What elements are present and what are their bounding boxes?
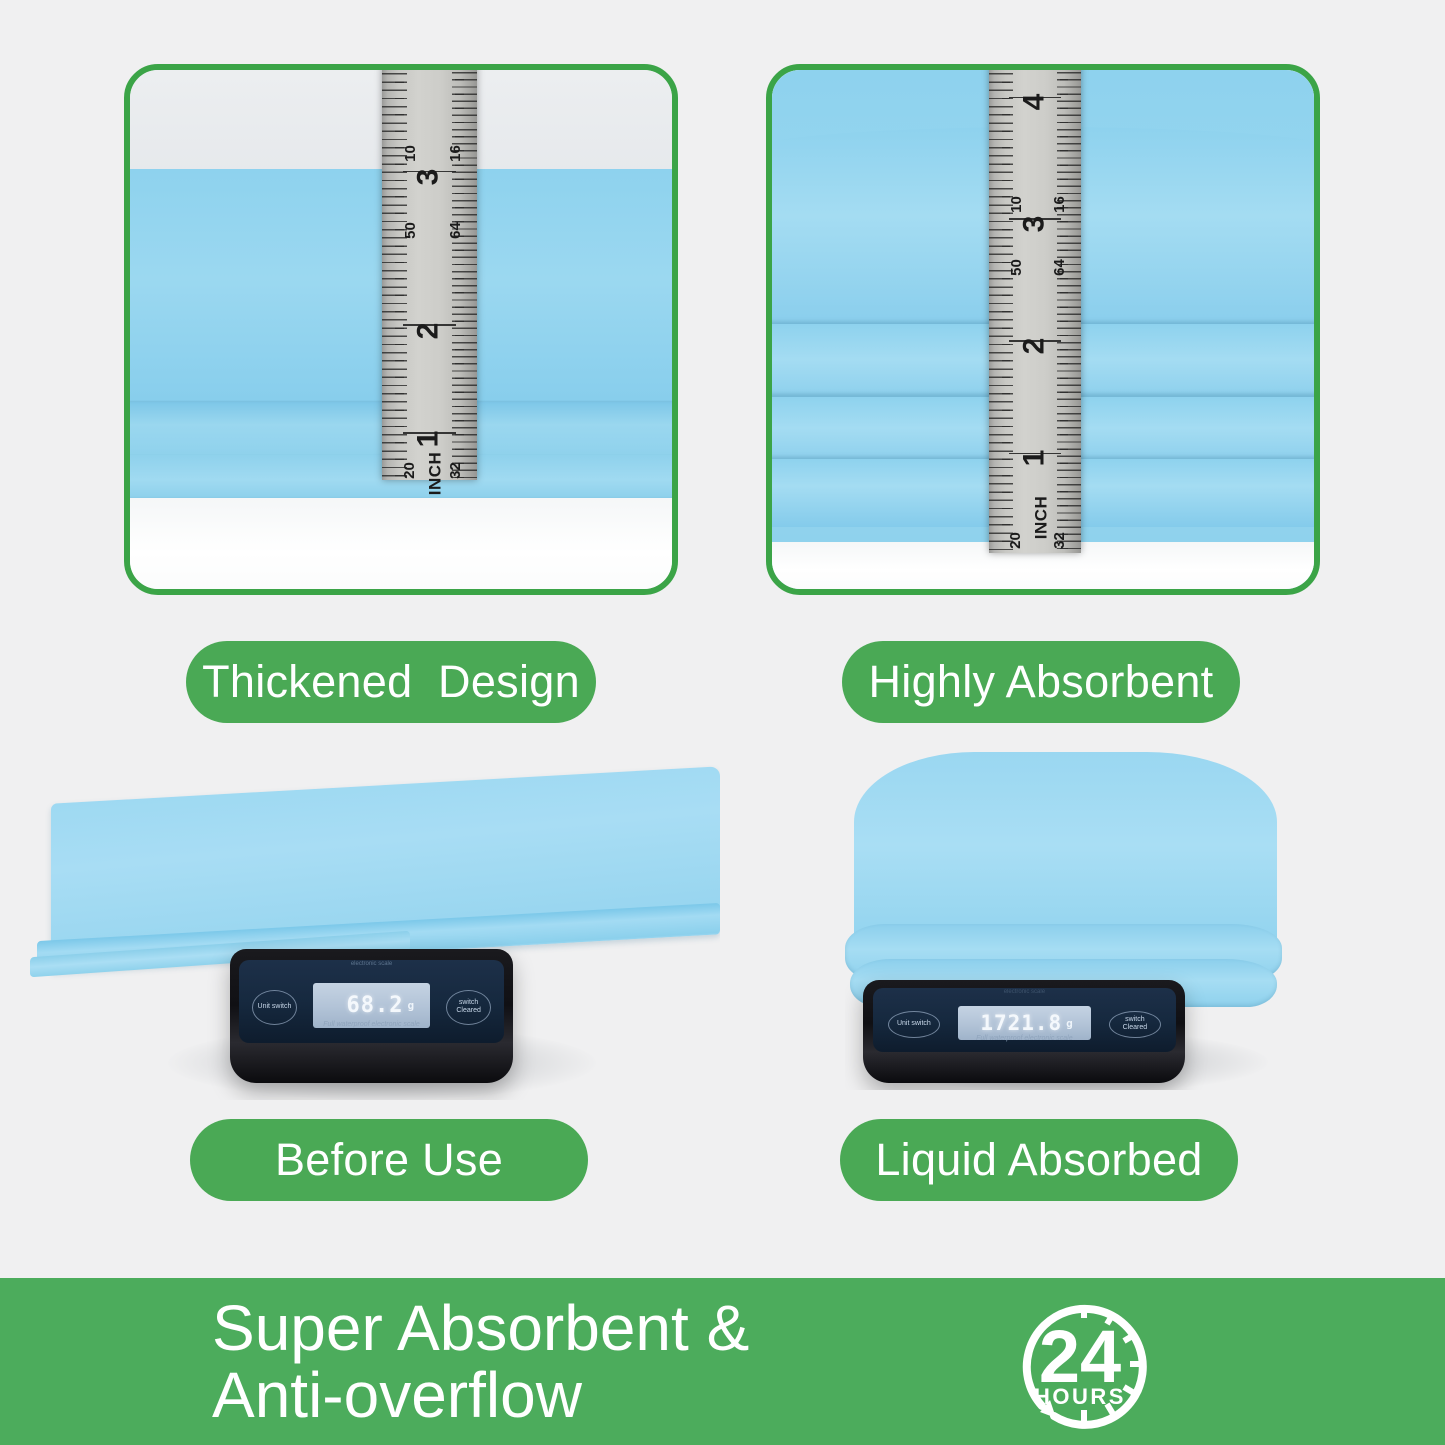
ruler-mark-16: 16: [1052, 196, 1067, 213]
ruler-ticks-right-coarse: [1060, 70, 1068, 553]
label-liquid-absorbed: Liquid Absorbed: [840, 1119, 1238, 1201]
steel-ruler: 3 2 1 INCH 10 50 20 16 64 32: [382, 70, 477, 480]
ruler-inch-4: 4: [1019, 93, 1049, 110]
absorbent-pad-stack-with-ruler-photo: 4 3 2 1 INCH 10 50 20 16 64 32: [772, 70, 1314, 589]
ruler-inch-3: 3: [1019, 215, 1049, 232]
digital-scale-before: electronic scale Unit switch 68.2 g swit…: [230, 949, 513, 1083]
ruler-mark-32: 32: [1052, 532, 1067, 549]
ruler-inch-2: 2: [1019, 337, 1049, 354]
label-before-use: Before Use: [190, 1119, 588, 1201]
scale-clear-button[interactable]: switch Cleared: [446, 990, 491, 1025]
ruler-inch-1: 1: [1019, 450, 1049, 467]
scale-unit-switch-button[interactable]: Unit switch: [888, 1011, 939, 1038]
scale-clear-button[interactable]: switch Cleared: [1109, 1011, 1160, 1038]
ruler-inch-1: 1: [413, 431, 443, 448]
ruler-mark-50: 50: [1009, 259, 1024, 276]
scale-front-panel: electronic scale Unit switch 1721.8 g sw…: [873, 988, 1176, 1052]
highly-absorbent-photo-frame: 4 3 2 1 INCH 10 50 20 16 64 32: [766, 64, 1320, 595]
ruler-ticks-left-coarse: [395, 70, 404, 480]
ruler-mark-10: 10: [403, 145, 418, 162]
scale-unit-switch-button[interactable]: Unit switch: [252, 990, 297, 1025]
scale-front-panel: electronic scale Unit switch 68.2 g swit…: [239, 960, 505, 1043]
scale-reading-unit: g: [1066, 1017, 1073, 1030]
ruler-unit-word: INCH: [1032, 495, 1049, 539]
ruler-mark-10: 10: [1009, 196, 1024, 213]
headline-text: Super Absorbent & Anti-overflow: [212, 1295, 749, 1428]
scale-caption-text: Full waterproof electronic scale: [873, 1035, 1176, 1042]
scale-reading-value: 68.2: [346, 993, 403, 1018]
soaked-pad-on-scale-photo: electronic scale Unit switch 1721.8 g sw…: [845, 745, 1305, 1090]
ruler-inch-2: 2: [413, 323, 443, 340]
flat-pad-on-scale-photo: electronic scale Unit switch 68.2 g swit…: [30, 765, 720, 1100]
clock-24-hours-icon: 24 HOURS: [1010, 1290, 1158, 1438]
scale-reading-unit: g: [407, 999, 414, 1012]
ruler-mark-64: 64: [1052, 259, 1067, 276]
ruler-ticks-right-coarse: [455, 70, 464, 480]
digital-scale-liquid: electronic scale Unit switch 1721.8 g sw…: [863, 980, 1185, 1084]
badge-word: HOURS: [1034, 1384, 1126, 1409]
scale-caption-text: Full waterproof electronic scale: [239, 1021, 505, 1028]
ruler-mark-64: 64: [447, 222, 462, 239]
label-highly-absorbent: Highly Absorbent: [842, 641, 1240, 723]
bottom-headline-banner: Super Absorbent & Anti-overflow: [0, 1278, 1445, 1445]
ruler-mark-32: 32: [447, 463, 462, 480]
ruler-unit-word: INCH: [427, 452, 444, 496]
scale-reading-value: 1721.8: [980, 1011, 1062, 1035]
thickened-design-photo-frame: 3 2 1 INCH 10 50 20 16 64 32: [124, 64, 678, 595]
steel-ruler: 4 3 2 1 INCH 10 50 20 16 64 32: [989, 70, 1081, 553]
scale-brand-text: electronic scale: [873, 989, 1176, 995]
scale-brand-text: electronic scale: [239, 961, 505, 967]
ruler-inch-3: 3: [413, 169, 443, 186]
thickened-pad-with-ruler-photo: 3 2 1 INCH 10 50 20 16 64 32: [130, 70, 672, 589]
ruler-mark-20: 20: [402, 463, 417, 480]
ruler-ticks-left-coarse: [1002, 70, 1010, 553]
label-thickened-design: Thickened Design: [186, 641, 596, 723]
table-surface: [130, 498, 672, 589]
product-infographic-page: 3 2 1 INCH 10 50 20 16 64 32: [0, 0, 1445, 1445]
ruler-mark-50: 50: [403, 222, 418, 239]
ruler-mark-20: 20: [1008, 532, 1023, 549]
ruler-mark-16: 16: [447, 145, 462, 162]
